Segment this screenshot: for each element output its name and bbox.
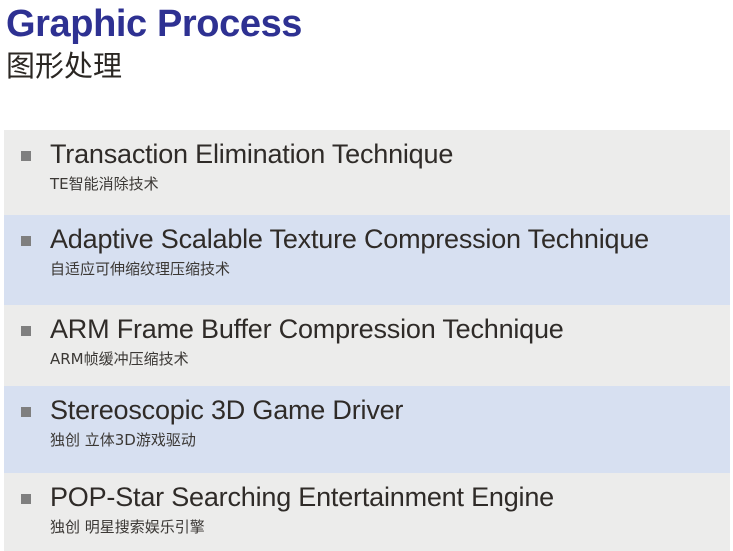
list-item-body: Transaction Elimination Technique TE智能消除… [4, 130, 730, 195]
square-bullet-icon [21, 326, 31, 336]
list-item-heading: Adaptive Scalable Texture Compression Te… [50, 223, 730, 256]
list-item-subtext: 自适应可伸缩纹理压缩技术 [50, 256, 730, 280]
list-item[interactable]: POP-Star Searching Entertainment Engine … [4, 473, 730, 551]
feature-band-list: Transaction Elimination Technique TE智能消除… [4, 130, 730, 551]
page-title: Graphic Process [6, 2, 706, 46]
list-item-subtext: 独创 明星搜索娱乐引擎 [50, 514, 730, 538]
page-subtitle: 图形处理 [6, 46, 706, 84]
list-item[interactable]: Transaction Elimination Technique TE智能消除… [4, 130, 730, 215]
list-item[interactable]: Adaptive Scalable Texture Compression Te… [4, 215, 730, 305]
list-item-subtext: ARM帧缓冲压缩技术 [50, 346, 730, 370]
list-item[interactable]: ARM Frame Buffer Compression Technique A… [4, 305, 730, 386]
list-item-subtext: 独创 立体3D游戏驱动 [50, 427, 730, 451]
list-item-body: POP-Star Searching Entertainment Engine … [4, 473, 730, 538]
list-item-body: Stereoscopic 3D Game Driver 独创 立体3D游戏驱动 [4, 386, 730, 451]
square-bullet-icon [21, 407, 31, 417]
list-item-heading: POP-Star Searching Entertainment Engine [50, 481, 730, 514]
list-item-body: Adaptive Scalable Texture Compression Te… [4, 215, 730, 280]
list-item-heading: ARM Frame Buffer Compression Technique [50, 313, 730, 346]
slide-title-block: Graphic Process 图形处理 [6, 2, 706, 84]
list-item-heading: Stereoscopic 3D Game Driver [50, 394, 730, 427]
list-item-subtext: TE智能消除技术 [50, 171, 730, 195]
list-item-body: ARM Frame Buffer Compression Technique A… [4, 305, 730, 370]
square-bullet-icon [21, 236, 31, 246]
square-bullet-icon [21, 494, 31, 504]
list-item-heading: Transaction Elimination Technique [50, 138, 730, 171]
list-item[interactable]: Stereoscopic 3D Game Driver 独创 立体3D游戏驱动 [4, 386, 730, 473]
square-bullet-icon [21, 151, 31, 161]
